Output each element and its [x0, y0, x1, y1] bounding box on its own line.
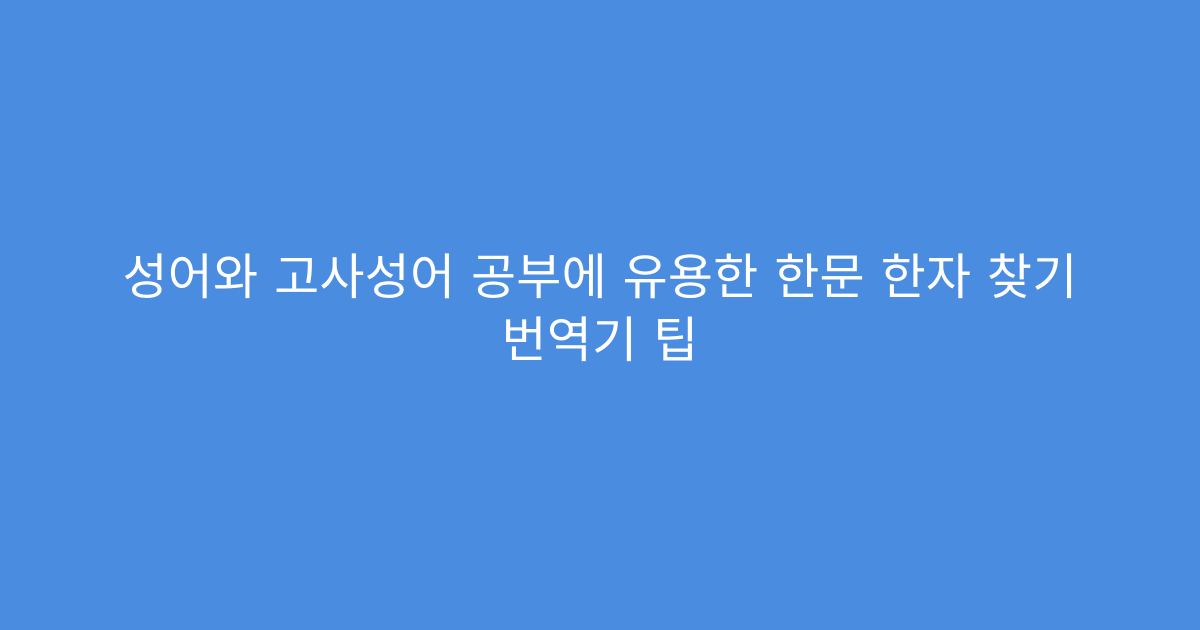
page-title: 성어와 고사성어 공부에 유용한 한문 한자 찾기 번역기 팁 [75, 246, 1125, 372]
title-card: 성어와 고사성어 공부에 유용한 한문 한자 찾기 번역기 팁 [0, 0, 1200, 630]
title-block: 성어와 고사성어 공부에 유용한 한문 한자 찾기 번역기 팁 [75, 246, 1125, 372]
